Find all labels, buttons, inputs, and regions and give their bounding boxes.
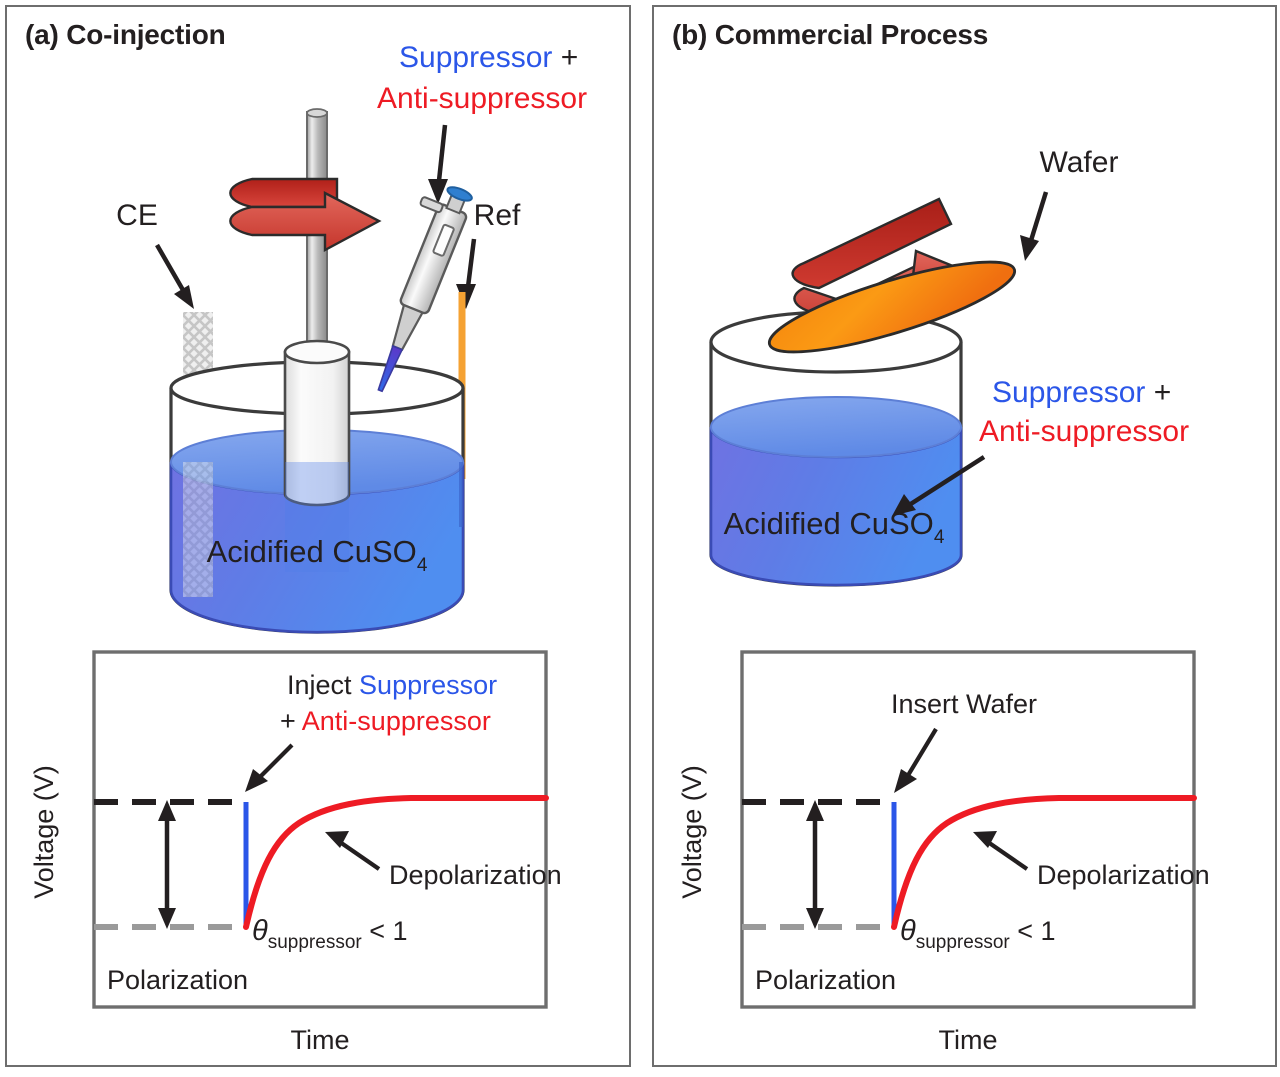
- theta-subscript-b: suppressor: [916, 932, 1011, 953]
- additive-label-line2: Anti-suppressor: [979, 415, 1189, 448]
- inject-annotation-a-suppressor: Suppressor: [359, 670, 497, 700]
- reference-electrode-label: Ref: [474, 199, 521, 232]
- solution-label-a-text: Acidified CuSO: [207, 534, 417, 569]
- rotating-disk-electrode-icon: [285, 109, 349, 505]
- theta-symbol-a: θ: [252, 915, 268, 947]
- panel-co-injection: (a) Co-injection: [5, 5, 631, 1067]
- chart-a: Voltage (V) Time Inject Supp: [29, 652, 562, 1055]
- mesh-electrode-submerged: [183, 447, 213, 597]
- injection-label-line2: Anti-suppressor: [377, 82, 587, 115]
- ce-arrow-head: [174, 285, 194, 309]
- wafer-label: Wafer: [1040, 146, 1119, 179]
- injection-label-suppressor: Suppressor: [399, 41, 552, 74]
- additive-label-suppressor: Suppressor: [992, 376, 1145, 409]
- panel-b-graphics: Wafer: [654, 7, 1275, 1065]
- counter-electrode-label: CE: [116, 199, 158, 232]
- injection-label-line1: Suppressor +: [399, 41, 578, 74]
- theta-subscript-a: suppressor: [268, 932, 363, 953]
- insert-wafer-annotation-b: Insert Wafer: [891, 689, 1037, 719]
- polarization-annotation-a: Polarization: [107, 965, 248, 995]
- additive-label-line1: Suppressor +: [992, 376, 1171, 409]
- depolarization-annotation-b: Depolarization: [1037, 860, 1210, 890]
- inject-annotation-a-antisuppressor: Anti-suppressor: [302, 706, 491, 736]
- chart-b: Voltage (V) Time Insert Wafer Depolariza…: [677, 652, 1210, 1055]
- chart-a-ylabel: Voltage (V): [29, 765, 59, 899]
- panel-a-graphics: Suppressor + Anti-suppressor CE Ref: [7, 7, 629, 1065]
- rotation-arrow-icon: [230, 179, 379, 250]
- chart-b-xlabel: Time: [939, 1025, 998, 1055]
- depolarization-annotation-a: Depolarization: [389, 860, 562, 890]
- theta-symbol-b: θ: [900, 915, 916, 947]
- solution-label-a-subscript: 4: [417, 555, 428, 576]
- figure-root: (a) Co-injection: [0, 0, 1280, 1077]
- solution-label-b-text: Acidified CuSO: [724, 506, 934, 541]
- chart-a-xlabel: Time: [291, 1025, 350, 1055]
- liquid-body-b: [711, 397, 961, 585]
- panel-commercial-process: (b) Commercial Process: [652, 5, 1277, 1067]
- chart-b-ylabel: Voltage (V): [677, 765, 707, 899]
- wafer-arrow-head: [1020, 235, 1039, 261]
- inject-annotation-a-line1: Inject Suppressor: [287, 670, 497, 700]
- polarization-annotation-b: Polarization: [755, 965, 896, 995]
- inject-annotation-a-line2: + Anti-suppressor: [280, 706, 491, 736]
- solution-label-b-subscript: 4: [934, 527, 945, 548]
